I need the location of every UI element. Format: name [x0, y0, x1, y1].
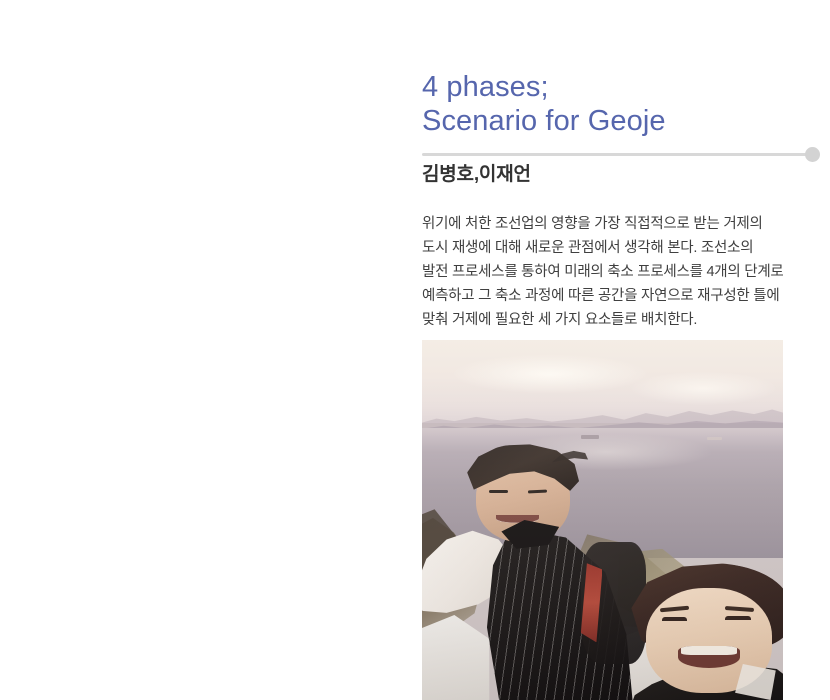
- boat-far: [581, 435, 599, 439]
- page-title: 4 phases; Scenario for Geoje: [422, 70, 822, 138]
- person-right-eye-left: [662, 617, 687, 621]
- person-right-teeth: [681, 646, 737, 655]
- boat-far-secondary: [707, 437, 721, 440]
- photo-scene: [422, 340, 783, 700]
- divider-line: [422, 153, 813, 156]
- page-root: 4 phases; Scenario for Geoje 김병호,이재언 위기에…: [0, 0, 830, 700]
- sky-haze: [451, 354, 650, 394]
- author-names: 김병호,이재언: [422, 162, 531, 188]
- divider: [422, 147, 820, 163]
- title-line-2: Scenario for Geoje: [422, 104, 822, 138]
- divider-knob-icon[interactable]: [805, 147, 820, 162]
- person-left-eye-left: [489, 490, 508, 493]
- title-line-1: 4 phases;: [422, 70, 822, 104]
- abstract-text: 위기에 처한 조선업의 영향을 가장 직접적으로 받는 거제의 도시 재생에 대…: [422, 212, 814, 332]
- person-right-mouth: [678, 646, 739, 668]
- sky-haze-secondary: [631, 372, 775, 404]
- left-blank-column: [0, 0, 410, 700]
- article-photo: [422, 340, 783, 700]
- article-content-column: 4 phases; Scenario for Geoje 김병호,이재언 위기에…: [422, 0, 830, 700]
- person-right-eye-right: [725, 616, 750, 620]
